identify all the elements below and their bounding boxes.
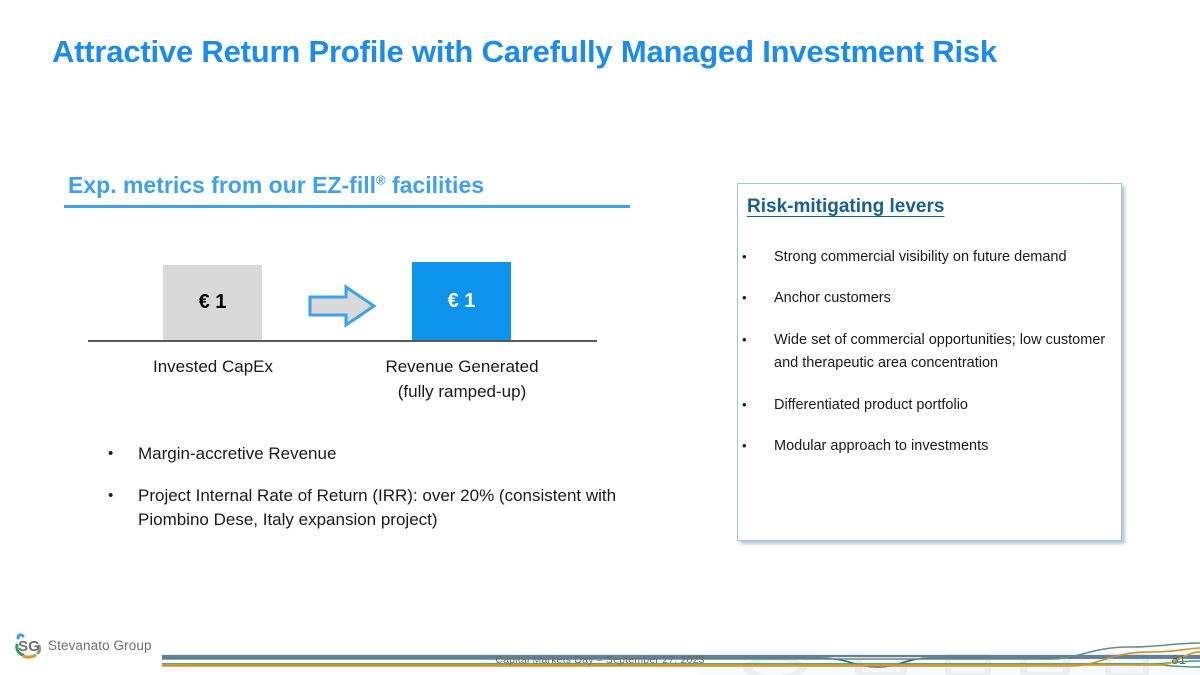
bar-invested-capex: € 1 bbox=[163, 265, 262, 340]
footer-event-text: Capital Markets Day – September 27, 2023 bbox=[0, 654, 1200, 666]
left-bullet-list: • Margin-accretive Revenue • Project Int… bbox=[108, 442, 688, 550]
list-item-label: Differentiated product portfolio bbox=[774, 394, 1114, 417]
bullet-dot-icon: • bbox=[108, 484, 138, 507]
bullet-dot-icon: • bbox=[742, 394, 774, 417]
page-number: 81 bbox=[1172, 652, 1186, 667]
list-item: • Modular approach to investments bbox=[742, 435, 1114, 458]
arrow-right-icon bbox=[306, 283, 378, 329]
chart-baseline-axis bbox=[88, 340, 597, 342]
bullet-dot-icon: • bbox=[742, 287, 774, 310]
bar-category-label-revenue-line-1: Revenue Generated bbox=[356, 355, 568, 380]
svg-text:SG: SG bbox=[18, 638, 40, 655]
list-item: • Anchor customers bbox=[742, 287, 1114, 310]
bar-category-label-revenue-line-2: (fully ramped-up) bbox=[356, 380, 568, 405]
list-item-label: Wide set of commercial opportunities; lo… bbox=[774, 329, 1114, 376]
panel-bullet-list: • Strong commercial visibility on future… bbox=[742, 246, 1114, 477]
list-item: • Project Internal Rate of Return (IRR):… bbox=[108, 484, 688, 532]
list-item: • Strong commercial visibility on future… bbox=[742, 246, 1114, 269]
panel-title: Risk-mitigating levers bbox=[747, 196, 944, 218]
bar-category-label-capex-line-1: Invested CapEx bbox=[113, 355, 313, 380]
bar-category-label-revenue: Revenue Generated (fully ramped-up) bbox=[356, 355, 568, 404]
list-item: • Differentiated product portfolio bbox=[742, 394, 1114, 417]
list-item-label: Strong commercial visibility on future d… bbox=[774, 246, 1114, 269]
list-item: • Wide set of commercial opportunities; … bbox=[742, 329, 1114, 376]
list-item-label: Anchor customers bbox=[774, 287, 1114, 310]
bullet-dot-icon: • bbox=[742, 329, 774, 352]
bar-value-label-capex: € 1 bbox=[199, 291, 227, 314]
bar-value-label-revenue: € 1 bbox=[448, 290, 476, 313]
list-item-label: Margin-accretive Revenue bbox=[138, 442, 688, 466]
capex-revenue-bar-chart: € 1 € 1 Invested CapEx Revenue Generated… bbox=[0, 0, 700, 420]
bar-category-label-capex: Invested CapEx bbox=[113, 355, 313, 380]
list-item-label: Modular approach to investments bbox=[774, 435, 1114, 458]
bullet-dot-icon: • bbox=[742, 246, 774, 269]
logo-wordmark: Stevanato Group bbox=[48, 638, 152, 653]
list-item-label: Project Internal Rate of Return (IRR): o… bbox=[138, 484, 688, 532]
bullet-dot-icon: • bbox=[108, 442, 138, 465]
bullet-dot-icon: • bbox=[742, 435, 774, 458]
bar-revenue-generated: € 1 bbox=[412, 262, 511, 341]
list-item: • Margin-accretive Revenue bbox=[108, 442, 688, 466]
